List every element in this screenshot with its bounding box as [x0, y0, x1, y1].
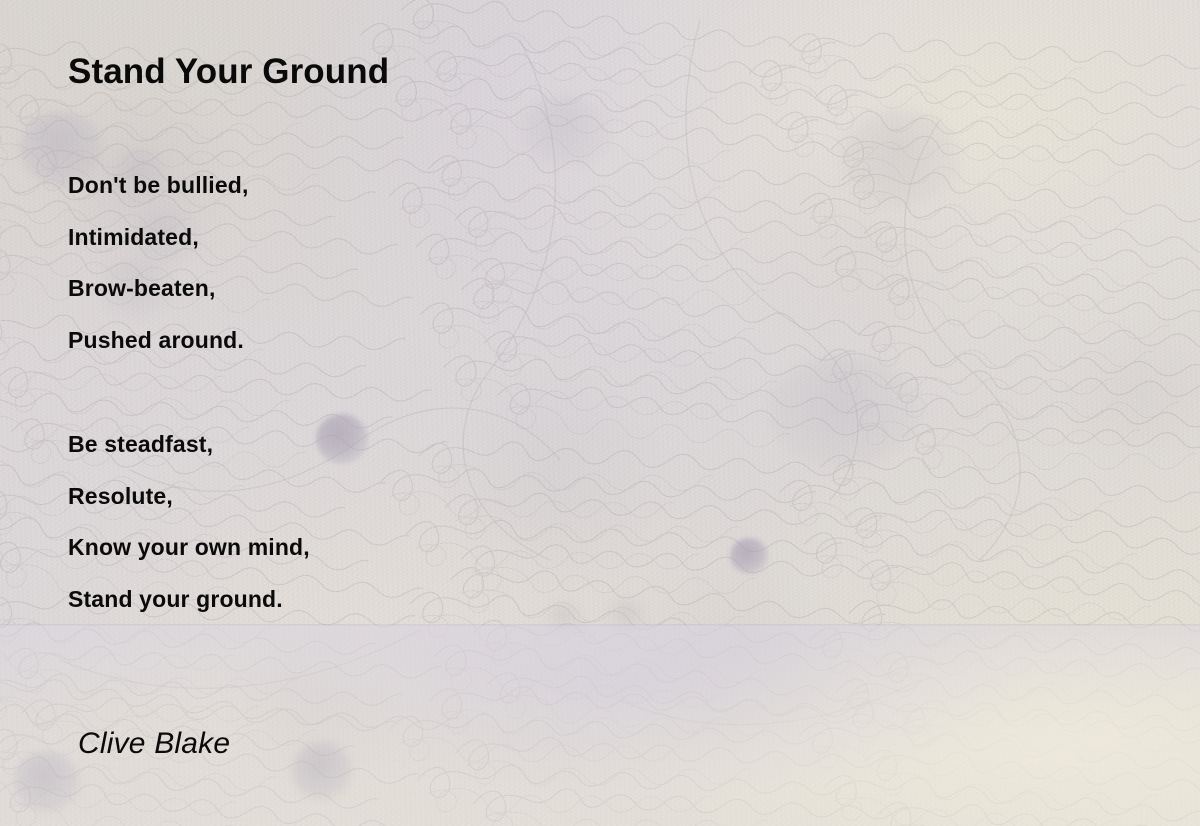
- poem-line: Don't be bullied,: [68, 160, 249, 212]
- poem-card: Stand Your Ground Don't be bullied, Inti…: [0, 0, 1200, 826]
- poem-line: Be steadfast,: [68, 419, 310, 471]
- poem-text-block: Stand Your Ground Don't be bullied, Inti…: [0, 0, 1200, 826]
- poem-line: Stand your ground.: [68, 574, 310, 626]
- poem-line: Brow-beaten,: [68, 263, 249, 315]
- stanza-1: Don't be bullied, Intimidated, Brow-beat…: [68, 160, 249, 366]
- poem-line: Intimidated,: [68, 212, 249, 264]
- poem-line: Resolute,: [68, 471, 310, 523]
- author-signature: Clive Blake: [78, 727, 230, 761]
- poem-line: Pushed around.: [68, 315, 249, 367]
- page-title: Stand Your Ground: [68, 52, 389, 92]
- poem-line: Know your own mind,: [68, 522, 310, 574]
- stanza-2: Be steadfast, Resolute, Know your own mi…: [68, 419, 310, 625]
